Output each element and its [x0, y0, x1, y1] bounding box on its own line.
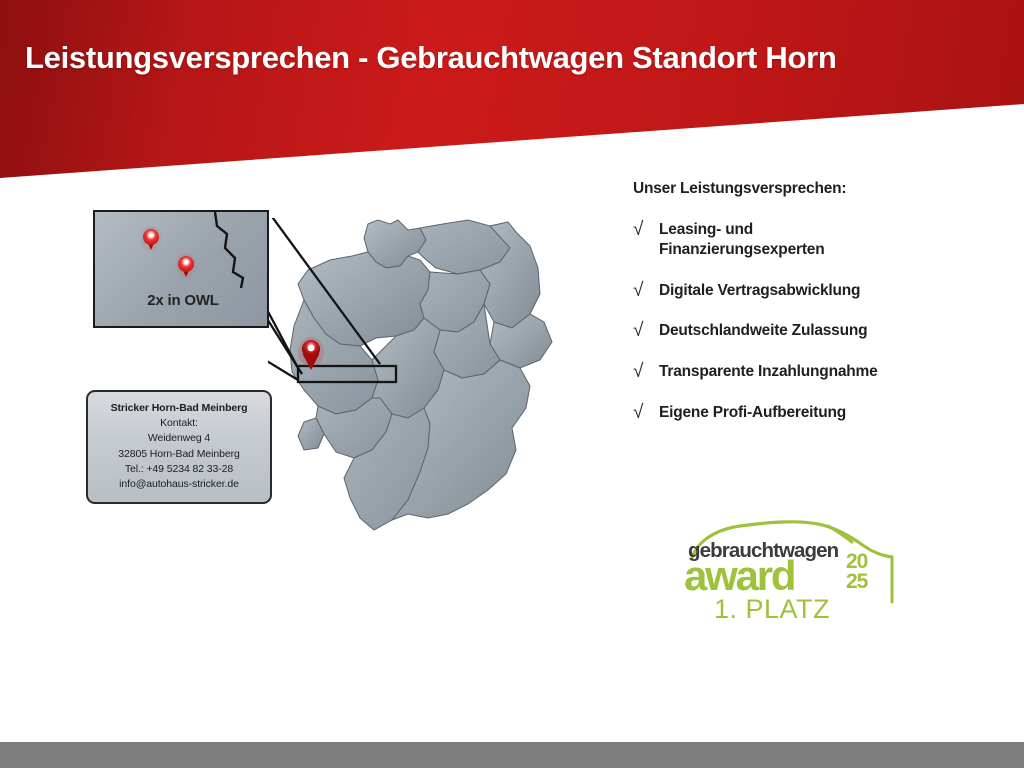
inset-border-sketch — [95, 212, 271, 330]
promise-item-aufbereitung: √ Eigene Profi-Aufbereitung — [633, 403, 1003, 423]
germany-map — [268, 218, 598, 638]
contact-kontakt-label: Kontakt: — [94, 416, 264, 431]
promise-list: Unser Leistungsversprechen: √ Leasing- u… — [633, 180, 1003, 444]
inset-label: 2x in OWL — [95, 292, 271, 309]
promise-heading: Unser Leistungsversprechen: — [633, 180, 1003, 198]
award-logo: gebrauchtwagen award 20 25 1. PLATZ — [678, 514, 908, 626]
footer-bar — [0, 742, 1024, 768]
page-title: Leistungsversprechen - Gebrauchtwagen St… — [25, 40, 837, 76]
award-word-award: award — [684, 555, 794, 597]
header-banner — [0, 0, 1024, 182]
promise-label: Digitale Vertragsabwicklung — [659, 281, 860, 301]
contact-box: Stricker Horn-Bad Meinberg Kontakt: Weid… — [86, 390, 272, 504]
contact-street: Weidenweg 4 — [94, 431, 264, 446]
promise-item-inzahlungnahme: √ Transparente Inzahlungnahme — [633, 362, 1003, 382]
promise-item-digital: √ Digitale Vertragsabwicklung — [633, 281, 1003, 301]
check-icon: √ — [633, 220, 659, 239]
map-inset-owl: 2x in OWL — [93, 210, 269, 328]
award-year-bottom: 25 — [846, 572, 867, 592]
slide-canvas: Leistungsversprechen - Gebrauchtwagen St… — [0, 0, 1024, 768]
promise-label: Transparente Inzahlungnahme — [659, 362, 878, 382]
promise-item-zulassung: √ Deutschlandweite Zulassung — [633, 321, 1003, 341]
promise-item-leasing: √ Leasing- und Finanzierungsexperten — [633, 220, 1003, 260]
promise-label: Eigene Profi-Aufbereitung — [659, 403, 846, 423]
check-icon: √ — [633, 321, 659, 340]
promise-label: Leasing- und Finanzierungsexperten — [659, 220, 824, 260]
contact-name: Stricker Horn-Bad Meinberg — [94, 401, 264, 416]
partner-logo-strip: Horn Nutzfahrzeuge Service SKODA Service — [0, 655, 1024, 740]
award-year: 20 25 — [846, 552, 867, 592]
award-year-top: 20 — [846, 552, 867, 572]
promise-label: Deutschlandweite Zulassung — [659, 321, 867, 341]
contact-phone[interactable]: Tel.: +49 5234 82 33-28 — [94, 462, 264, 477]
check-icon: √ — [633, 362, 659, 381]
contact-city: 32805 Horn-Bad Meinberg — [94, 447, 264, 462]
check-icon: √ — [633, 281, 659, 300]
check-icon: √ — [633, 403, 659, 422]
award-rank: 1. PLATZ — [714, 594, 830, 625]
contact-email[interactable]: info@autohaus-stricker.de — [94, 477, 264, 492]
